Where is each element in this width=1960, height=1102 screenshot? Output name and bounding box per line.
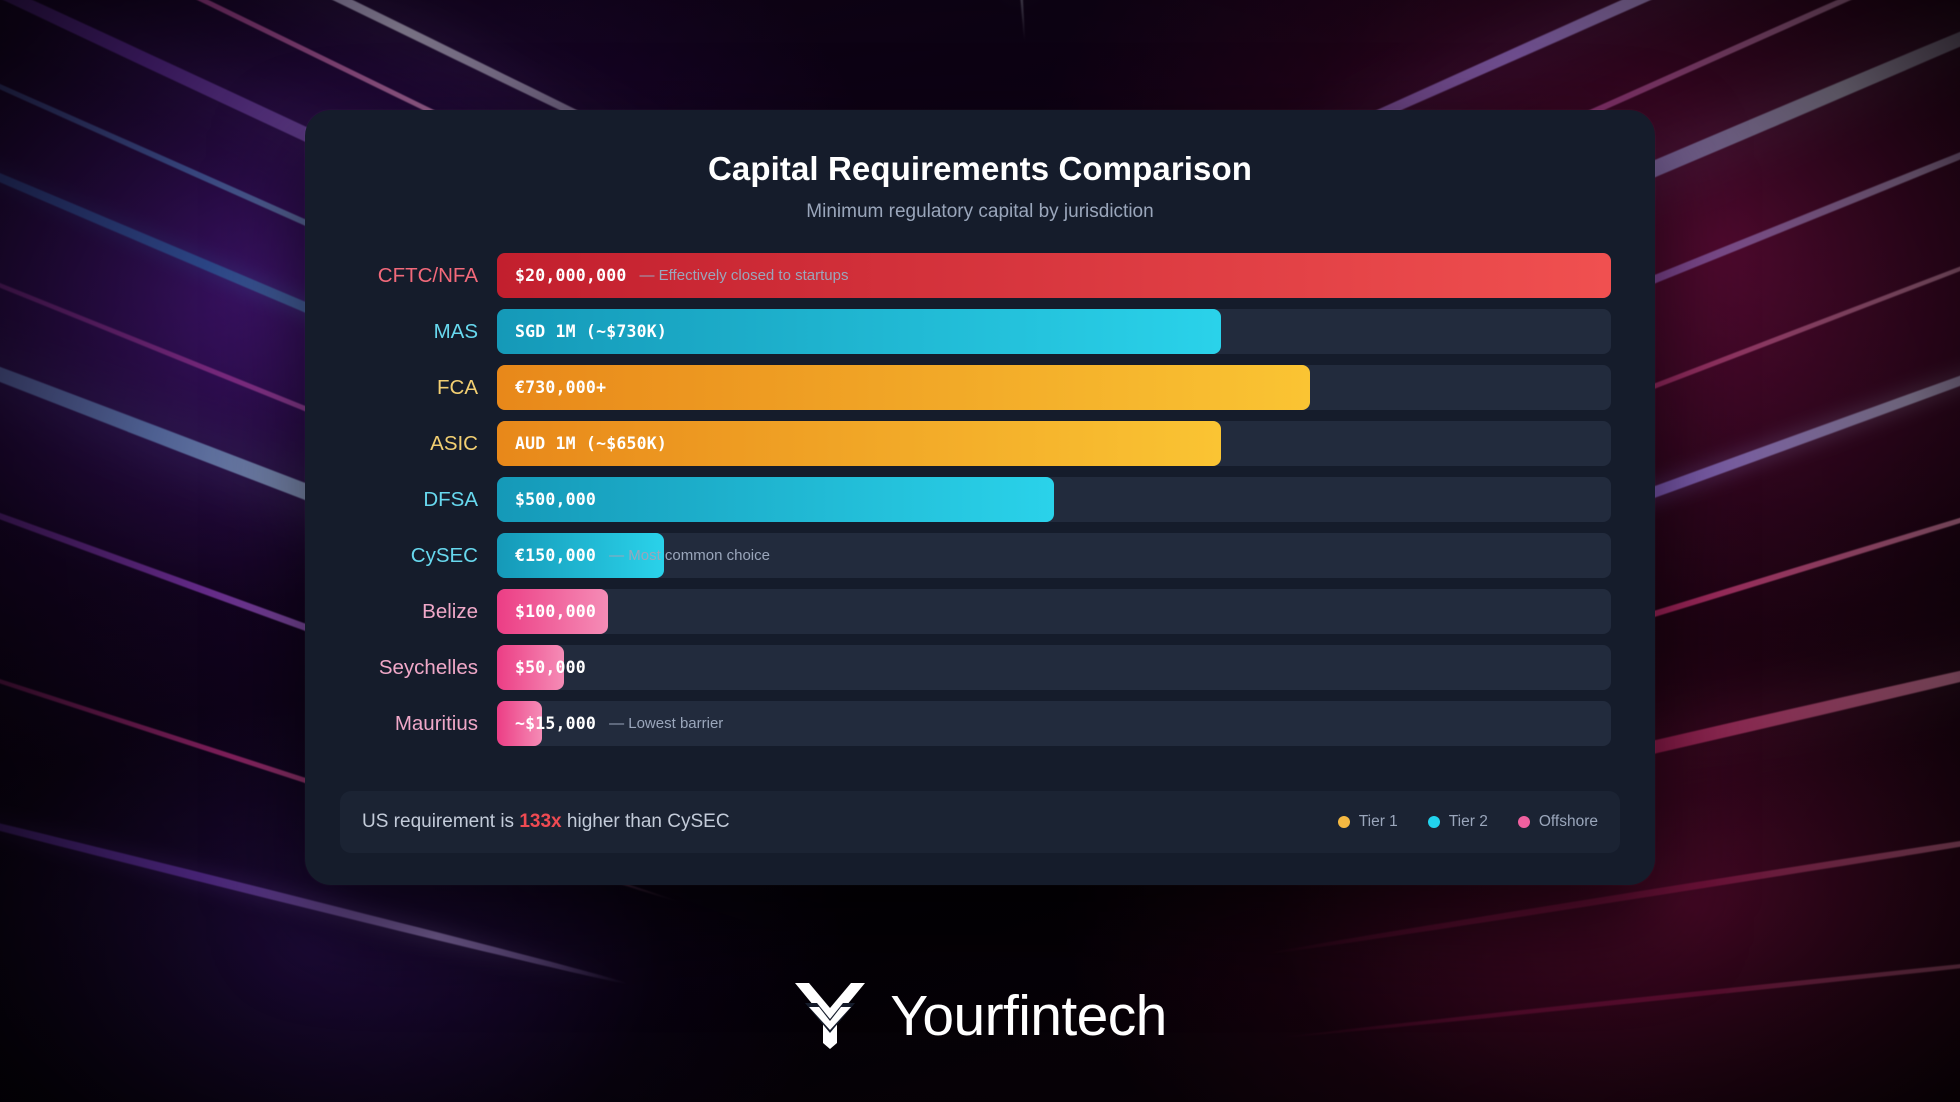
bar-row-label: Belize [349, 600, 497, 624]
bar-fill [497, 421, 1221, 466]
bar-fill [497, 589, 608, 634]
legend-item-label: Offshore [1539, 813, 1598, 831]
bar-row-cysec: CySEC€150,000— Most common choice [349, 533, 1611, 578]
legend-item-tier-1: Tier 1 [1338, 813, 1398, 831]
card-footer: US requirement is 133x higher than CySEC… [340, 791, 1620, 853]
bar-row-label: Mauritius [349, 712, 497, 736]
footer-note: US requirement is 133x higher than CySEC [362, 811, 730, 833]
footer-note-highlight: 133x [519, 811, 561, 832]
bar-row-dfsa: DFSA$500,000 [349, 477, 1611, 522]
footer-note-prefix: US requirement is [362, 811, 519, 832]
bar-fill [497, 253, 1611, 298]
bar-row-label: FCA [349, 376, 497, 400]
bar-fill [497, 533, 664, 578]
bar-track: SGD 1M (~$730K) [497, 309, 1611, 354]
bar-track: $500,000 [497, 477, 1611, 522]
card-title: Capital Requirements Comparison [349, 150, 1611, 188]
bar-chart-rows: CFTC/NFA$20,000,000— Effectively closed … [349, 253, 1611, 746]
footer-note-suffix: higher than CySEC [562, 811, 730, 832]
bar-track: $100,000 [497, 589, 1611, 634]
bar-track: ~$15,000— Lowest barrier [497, 701, 1611, 746]
legend-dot-offshore [1518, 816, 1530, 828]
card-subtitle: Minimum regulatory capital by jurisdicti… [349, 201, 1611, 223]
legend-dot-tier-2 [1428, 816, 1440, 828]
bar-row-label: DFSA [349, 488, 497, 512]
bar-fill [497, 477, 1054, 522]
bar-row-cftc-nfa: CFTC/NFA$20,000,000— Effectively closed … [349, 253, 1611, 298]
bar-note-label: — Lowest barrier [609, 715, 723, 732]
legend-item-offshore: Offshore [1518, 813, 1598, 831]
bar-track: €150,000— Most common choice [497, 533, 1611, 578]
bar-track: €730,000+ [497, 365, 1611, 410]
bar-track: $20,000,000— Effectively closed to start… [497, 253, 1611, 298]
bar-row-belize: Belize$100,000 [349, 589, 1611, 634]
legend-dot-tier-1 [1338, 816, 1350, 828]
bar-row-mauritius: Mauritius~$15,000— Lowest barrier [349, 701, 1611, 746]
bar-row-seychelles: Seychelles$50,000 [349, 645, 1611, 690]
bar-row-fca: FCA€730,000+ [349, 365, 1611, 410]
tier-legend: Tier 1Tier 2Offshore [1338, 813, 1598, 831]
yourfintech-chevron-logo-icon [793, 977, 867, 1054]
bar-row-label: Seychelles [349, 656, 497, 680]
bar-row-mas: MASSGD 1M (~$730K) [349, 309, 1611, 354]
bar-row-label: CFTC/NFA [349, 264, 497, 288]
brand-name: Yourfintech [890, 983, 1167, 1049]
bar-fill [497, 309, 1221, 354]
bar-row-label: CySEC [349, 544, 497, 568]
bar-row-label: ASIC [349, 432, 497, 456]
screenshot-stage: Capital Requirements Comparison Minimum … [0, 0, 1960, 1102]
bar-text-group: ~$15,000— Lowest barrier [515, 701, 723, 746]
bar-track: $50,000 [497, 645, 1611, 690]
bar-fill [497, 701, 542, 746]
bar-track: AUD 1M (~$650K) [497, 421, 1611, 466]
brand-lockup: Yourfintech [0, 977, 1960, 1054]
bar-fill [497, 365, 1310, 410]
bar-row-label: MAS [349, 320, 497, 344]
bar-row-asic: ASICAUD 1M (~$650K) [349, 421, 1611, 466]
legend-item-label: Tier 1 [1359, 813, 1398, 831]
bar-fill [497, 645, 564, 690]
legend-item-tier-2: Tier 2 [1428, 813, 1488, 831]
comparison-card: Capital Requirements Comparison Minimum … [305, 110, 1655, 885]
legend-item-label: Tier 2 [1449, 813, 1488, 831]
